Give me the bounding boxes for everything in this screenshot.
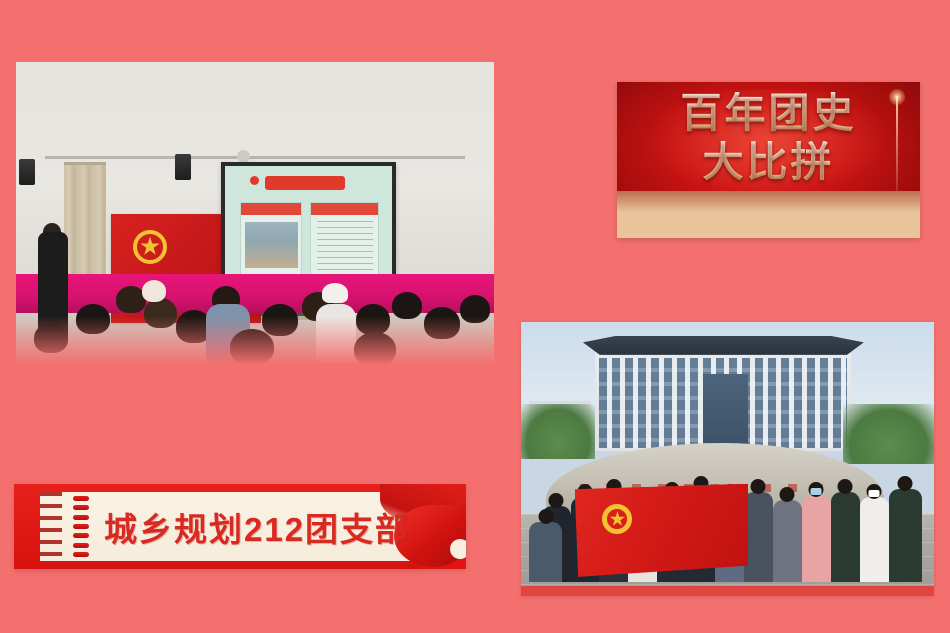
branch-name-text: 城乡规划212团支部 [104,484,346,569]
branch-name-banner: 城乡规划212团支部 [14,484,466,569]
title-line-1: 百年团史 [681,92,857,135]
notebook-rings-icon [72,494,90,559]
presentation-slide: 百年团史 大比拼 [0,0,950,633]
ribbon-highlight [450,539,466,559]
title-line-2: 大比拼 [703,141,835,184]
stage-floor-shadow [617,191,920,238]
photo-group-campus [521,322,934,596]
audience-group [16,62,494,365]
trees-right [843,404,934,464]
red-carpet-strip [521,586,934,596]
building-entrance [703,374,748,448]
photo-classroom-lecture [16,62,494,365]
notebook-binding-icon [40,492,62,561]
youth-league-flag [575,484,748,577]
building-roof [583,336,864,355]
trees-left [521,404,595,459]
title-banner-text: 百年团史 大比拼 [617,82,920,194]
title-banner: 百年团史 大比拼 [617,82,920,238]
